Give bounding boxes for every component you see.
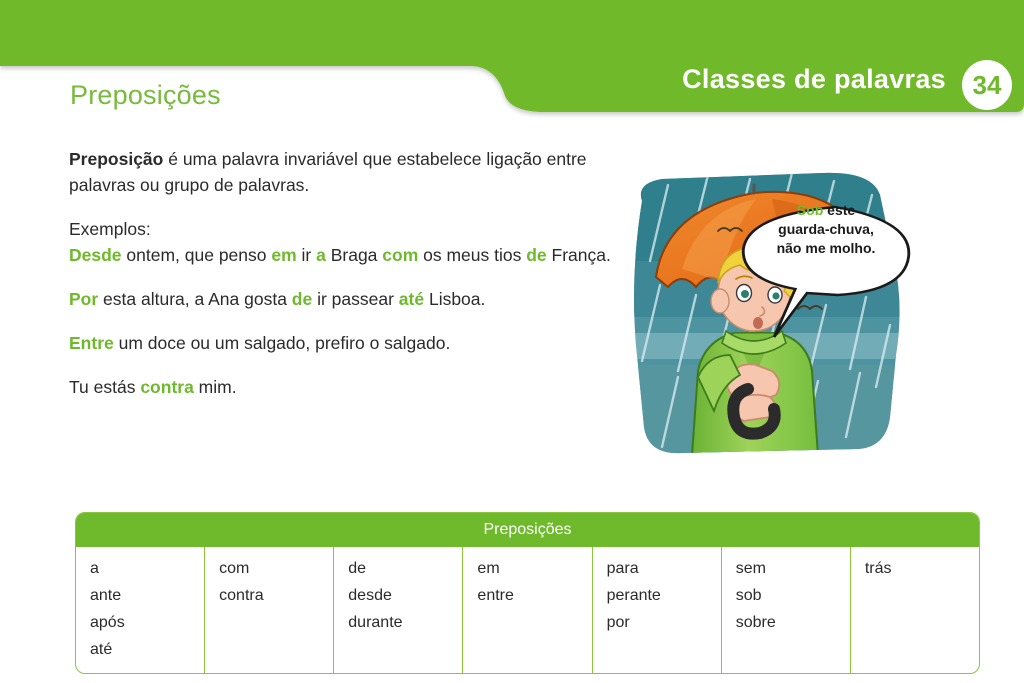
lesson-content: Preposição é uma palavra invariável que … bbox=[69, 146, 629, 418]
preposition-com: com bbox=[382, 245, 418, 265]
example-1-text-3: Braga bbox=[326, 245, 382, 265]
preposition-em: em bbox=[271, 245, 296, 265]
speech-preposition-sob: Sob bbox=[797, 202, 823, 218]
example-sentence-4: Tu estás contra mim. bbox=[69, 374, 629, 400]
preposition-cell: sem bbox=[736, 555, 850, 582]
preposition-cell: após bbox=[90, 609, 204, 636]
preposition-cell: em bbox=[477, 555, 591, 582]
preposition-cell: durante bbox=[348, 609, 462, 636]
example-sentence-1: Desde ontem, que penso em ir a Braga com… bbox=[69, 242, 629, 268]
speech-line-3: não me molho. bbox=[750, 239, 902, 258]
example-1-text-2: ir bbox=[297, 245, 316, 265]
page-number: 34 bbox=[973, 72, 1002, 98]
speech-line-2: guarda-chuva, bbox=[750, 220, 902, 239]
prepositions-table: Preposições aanteapósatécomcontradedesde… bbox=[75, 512, 980, 674]
preposition-cell: até bbox=[90, 636, 204, 663]
table-body: aanteapósatécomcontradedesdeduranteement… bbox=[76, 547, 979, 673]
definition-term: Preposição bbox=[69, 149, 163, 169]
preposition-de-2: de bbox=[292, 289, 312, 309]
example-4-text-1: Tu estás bbox=[69, 377, 140, 397]
header-title: Classes de palavras bbox=[682, 66, 946, 93]
example-2-text-2: ir passear bbox=[312, 289, 399, 309]
example-1-text-5: França. bbox=[547, 245, 611, 265]
preposition-cell: desde bbox=[348, 582, 462, 609]
preposition-cell: sobre bbox=[736, 609, 850, 636]
page-number-badge: 34 bbox=[962, 60, 1012, 110]
preposition-cell: contra bbox=[219, 582, 333, 609]
preposition-contra: contra bbox=[140, 377, 193, 397]
preposition-entre: Entre bbox=[69, 333, 114, 353]
preposition-desde: Desde bbox=[69, 245, 122, 265]
table-column-3: dedesdedurante bbox=[333, 547, 462, 673]
preposition-cell: a bbox=[90, 555, 204, 582]
table-column-1: aanteapósaté bbox=[76, 547, 204, 673]
preposition-cell: sob bbox=[736, 582, 850, 609]
example-2-text-1: esta altura, a Ana gosta bbox=[98, 289, 292, 309]
example-1-text-1: ontem, que penso bbox=[122, 245, 272, 265]
table-column-5: paraperantepor bbox=[592, 547, 721, 673]
example-4-text-2: mim. bbox=[194, 377, 237, 397]
preposition-cell: ante bbox=[90, 582, 204, 609]
table-column-7: trás bbox=[850, 547, 979, 673]
speech-line-1-rest: este bbox=[823, 202, 855, 218]
example-2-text-3: Lisboa. bbox=[424, 289, 485, 309]
page-title: Preposições bbox=[70, 82, 221, 109]
preposition-por: Por bbox=[69, 289, 98, 309]
speech-line-1: Sob este bbox=[750, 201, 902, 220]
speech-bubble-text: Sob este guarda-chuva, não me molho. bbox=[750, 201, 902, 258]
examples-label: Exemplos: bbox=[69, 216, 629, 242]
example-sentence-3: Entre um doce ou um salgado, prefiro o s… bbox=[69, 330, 629, 356]
preposition-cell: para bbox=[607, 555, 721, 582]
table-caption: Preposições bbox=[76, 513, 979, 547]
preposition-cell: perante bbox=[607, 582, 721, 609]
example-sentence-2: Por esta altura, a Ana gosta de ir passe… bbox=[69, 286, 629, 312]
preposition-a: a bbox=[316, 245, 326, 265]
table-column-2: comcontra bbox=[204, 547, 333, 673]
preposition-de: de bbox=[526, 245, 546, 265]
table-column-4: ementre bbox=[462, 547, 591, 673]
preposition-cell: entre bbox=[477, 582, 591, 609]
preposition-ate: até bbox=[399, 289, 424, 309]
illustration-boy-with-umbrella: Sob este guarda-chuva, não me molho. bbox=[622, 165, 918, 465]
preposition-cell: com bbox=[219, 555, 333, 582]
preposition-cell: de bbox=[348, 555, 462, 582]
definition-paragraph: Preposição é uma palavra invariável que … bbox=[69, 146, 629, 198]
table-column-6: semsobsobre bbox=[721, 547, 850, 673]
example-1-text-4: os meus tios bbox=[418, 245, 526, 265]
preposition-cell: trás bbox=[865, 555, 979, 582]
example-3-text-1: um doce ou um salgado, prefiro o salgado… bbox=[114, 333, 451, 353]
preposition-cell: por bbox=[607, 609, 721, 636]
